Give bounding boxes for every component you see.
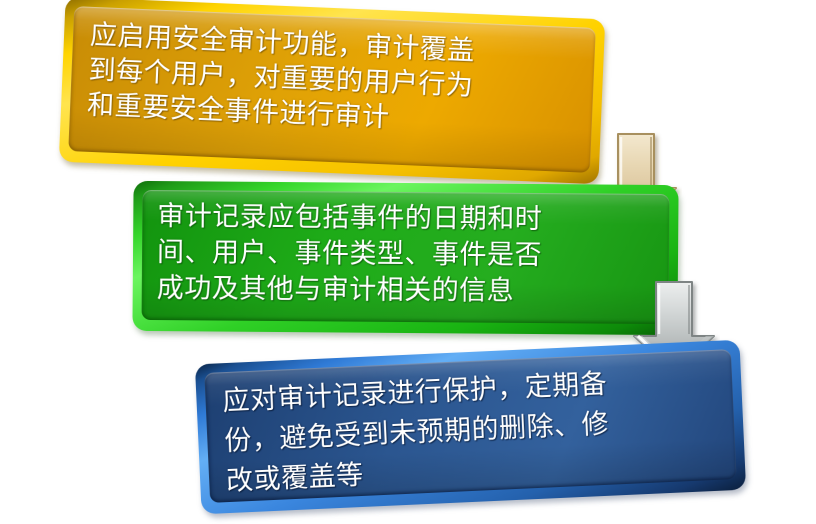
- step-2-text: 审计记录应包括事件的日期和时 间、用户、事件类型、事件是否 成功及其他与审计相关…: [133, 181, 679, 310]
- step-1-text: 应启用安全审计功能，审计覆盖 到每个用户，对重要的用户行为 和重要安全事件进行审…: [60, 0, 605, 144]
- step-3-text: 应对审计记录进行保护，定期备 份，避免受到未预期的删除、修 改或覆盖等: [195, 340, 746, 503]
- process-step-3-blue[interactable]: 应对审计记录进行保护，定期备 份，避免受到未预期的删除、修 改或覆盖等: [195, 340, 746, 515]
- diagram-canvas: 应启用安全审计功能，审计覆盖 到每个用户，对重要的用户行为 和重要安全事件进行审…: [0, 0, 816, 524]
- process-step-2-green[interactable]: 审计记录应包括事件的日期和时 间、用户、事件类型、事件是否 成功及其他与审计相关…: [132, 181, 678, 335]
- process-step-1-orange[interactable]: 应启用安全审计功能，审计覆盖 到每个用户，对重要的用户行为 和重要安全事件进行审…: [59, 0, 605, 184]
